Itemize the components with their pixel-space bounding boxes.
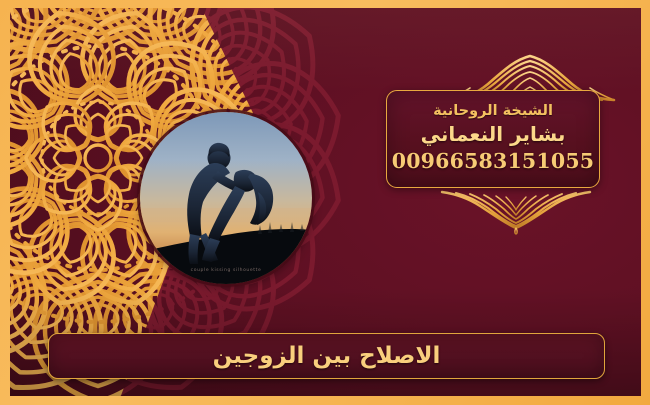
photo-credit: couple kissing silhouette: [140, 268, 312, 273]
poster-canvas: couple kissing silhouette: [0, 0, 650, 405]
card-name-line: بشاير النعماني: [421, 121, 566, 147]
card-phone-number[interactable]: 00966583151055: [392, 149, 595, 175]
card-title-line: الشيخة الروحانية: [433, 102, 553, 120]
bottom-banner-text: الاصلاح بين الزوجين: [213, 345, 441, 368]
couple-photo: couple kissing silhouette: [140, 112, 312, 284]
bottom-service-banner: الاصلاح بين الزوجين: [48, 333, 605, 379]
pendant-fan-ornament-icon: [440, 190, 592, 236]
practitioner-name-card: الشيخة الروحانية بشاير النعماني 00966583…: [386, 90, 600, 188]
